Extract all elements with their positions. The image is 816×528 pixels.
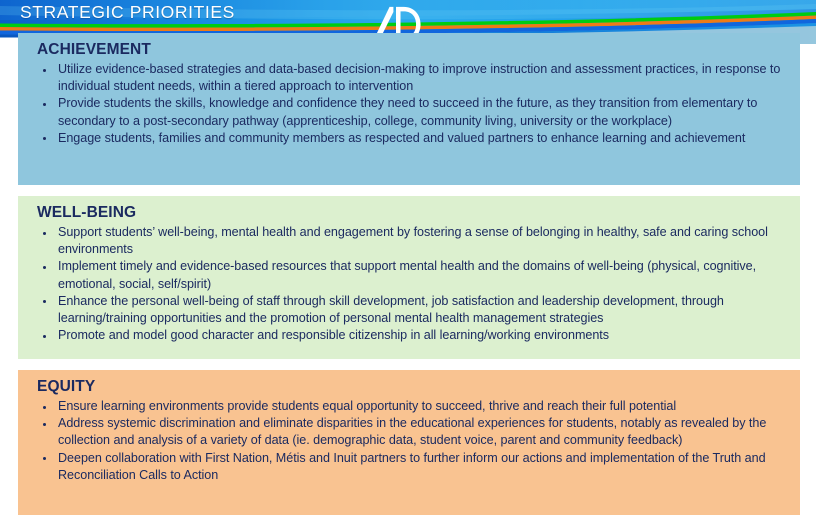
bullet-list-equity: Ensure learning environments provide stu… [28,398,790,484]
bullet-list-achievement: Utilize evidence-based strategies and da… [28,61,790,147]
list-item: Support students’ well-being, mental hea… [34,224,790,258]
list-item: Promote and model good character and res… [34,327,790,344]
list-item: Implement timely and evidence-based reso… [34,258,790,292]
bullet-list-wellbeing: Support students’ well-being, mental hea… [28,224,790,344]
list-item: Address systemic discrimination and elim… [34,415,790,449]
list-item: Provide students the skills, knowledge a… [34,95,790,129]
section-title-equity: EQUITY [37,377,790,397]
list-item: Deepen collaboration with First Nation, … [34,450,790,484]
section-achievement: ACHIEVEMENT Utilize evidence-based strat… [18,33,800,185]
section-title-achievement: ACHIEVEMENT [37,40,790,60]
slide-canvas: STRATEGIC PRIORITIES ACHIEVEMENT Utilize… [0,0,816,528]
list-item: Engage students, families and community … [34,130,790,147]
section-title-wellbeing: WELL-BEING [37,203,790,223]
list-item: Ensure learning environments provide stu… [34,398,790,415]
section-wellbeing: WELL-BEING Support students’ well-being,… [18,196,800,359]
list-item: Utilize evidence-based strategies and da… [34,61,790,95]
section-equity: EQUITY Ensure learning environments prov… [18,370,800,515]
list-item: Enhance the personal well-being of staff… [34,293,790,327]
